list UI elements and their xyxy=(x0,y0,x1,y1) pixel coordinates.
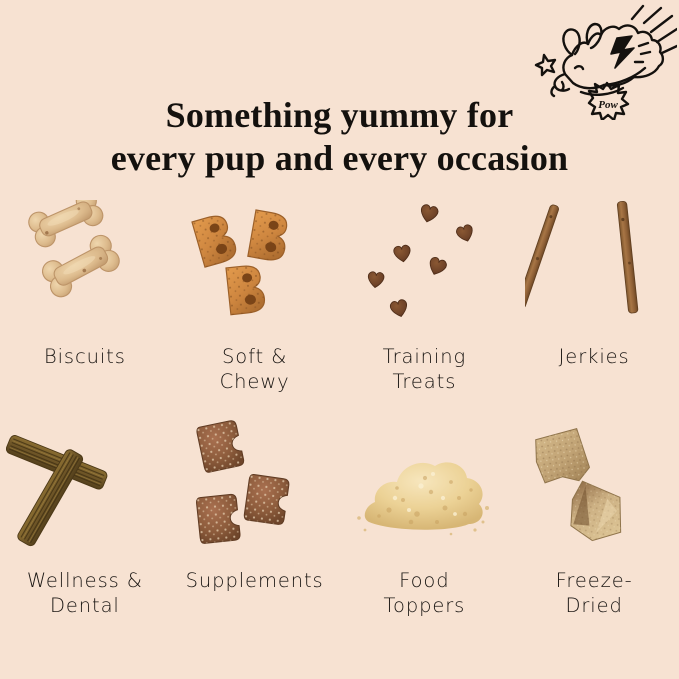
category-item-food-toppers[interactable]: Food Toppers xyxy=(340,418,510,640)
category-item-wellness-dental[interactable]: Wellness & Dental xyxy=(0,418,170,640)
category-label: Supplements xyxy=(186,568,324,593)
category-item-biscuits[interactable]: Biscuits xyxy=(0,196,170,418)
page-title: Something yummy for every pup and every … xyxy=(0,94,679,180)
category-label: Soft & Chewy xyxy=(220,344,290,394)
wellness-dental-image xyxy=(6,420,156,560)
category-label: Training Treats xyxy=(383,344,466,394)
category-item-freeze-dried[interactable]: Freeze- Dried xyxy=(509,418,679,640)
category-item-training-treats[interactable]: Training Treats xyxy=(340,196,510,418)
category-row: Wellness & Dental xyxy=(0,418,679,640)
freeze-dried-image xyxy=(525,420,675,560)
biscuits-image xyxy=(4,200,154,340)
soft-chewy-image xyxy=(178,196,328,336)
headline-line-2: every pup and every occasion xyxy=(0,137,679,180)
category-label: Wellness & Dental xyxy=(27,568,143,618)
supplements-image xyxy=(182,420,332,560)
headline-line-1: Something yummy for xyxy=(0,94,679,137)
category-item-soft-chewy[interactable]: Soft & Chewy xyxy=(170,196,340,418)
category-label: Freeze- Dried xyxy=(556,568,633,618)
category-item-supplements[interactable]: Supplements xyxy=(170,418,340,640)
category-row: Biscuits xyxy=(0,196,679,418)
category-label: Biscuits xyxy=(44,344,126,369)
promo-poster: Pow Something yummy for every pup and ev… xyxy=(0,0,679,679)
category-item-jerkies[interactable]: Jerkies xyxy=(509,196,679,418)
food-toppers-image xyxy=(351,422,501,562)
jerkies-image xyxy=(525,194,675,334)
category-grid: Biscuits xyxy=(0,196,679,640)
category-label: Food Toppers xyxy=(383,568,465,618)
training-treats-image xyxy=(353,196,503,336)
category-label: Jerkies xyxy=(559,344,630,369)
